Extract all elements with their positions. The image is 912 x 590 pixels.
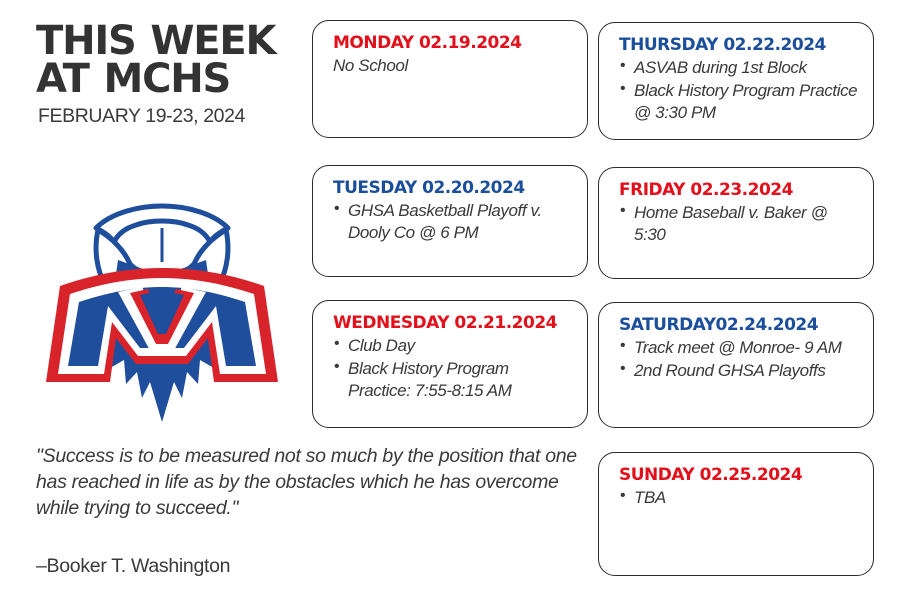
event-item: TBA xyxy=(619,487,859,509)
masthead: THIS WEEK AT MCHS FEBRUARY 19-23, 2024 xyxy=(36,22,298,128)
day-card-heading: SATURDAY02.24.2024 xyxy=(619,316,859,335)
event-list: TBA xyxy=(619,487,859,509)
quote-text: "Success is to be measured not so much b… xyxy=(36,444,584,522)
day-card-heading: TUESDAY 02.20.2024 xyxy=(333,179,573,198)
event-list: GHSA Basketball Playoff v. Dooly Co @ 6 … xyxy=(333,200,573,244)
day-card-heading: THURSDAY 02.22.2024 xyxy=(619,36,859,55)
day-card-tuesday: TUESDAY 02.20.2024GHSA Basketball Playof… xyxy=(312,165,588,277)
day-card-heading: FRIDAY 02.23.2024 xyxy=(619,181,859,200)
quote-block: "Success is to be measured not so much b… xyxy=(36,444,584,578)
event-item: GHSA Basketball Playoff v. Dooly Co @ 6 … xyxy=(333,200,573,244)
day-card-sunday: SUNDAY 02.25.2024TBA xyxy=(598,452,874,576)
day-card-friday: FRIDAY 02.23.2024Home Baseball v. Baker … xyxy=(598,167,874,279)
event-item: No School xyxy=(333,55,573,77)
date-range-subtitle: FEBRUARY 19-23, 2024 xyxy=(38,105,298,128)
day-card-thursday: THURSDAY 02.22.2024ASVAB during 1st Bloc… xyxy=(598,22,874,140)
day-card-heading: SUNDAY 02.25.2024 xyxy=(619,466,859,485)
page-title: THIS WEEK AT MCHS xyxy=(36,22,298,98)
event-list: Home Baseball v. Baker @ 5:30 xyxy=(619,202,859,246)
day-card-heading: MONDAY 02.19.2024 xyxy=(333,34,573,53)
event-list: No School xyxy=(333,55,573,77)
day-card-wednesday: WEDNESDAY 02.21.2024Club DayBlack Histor… xyxy=(312,300,588,428)
event-item: Black History Program Practice: 7:55-8:1… xyxy=(333,358,573,402)
day-card-heading: WEDNESDAY 02.21.2024 xyxy=(333,314,573,333)
event-item: 2nd Round GHSA Playoffs xyxy=(619,360,859,382)
event-item: Club Day xyxy=(333,335,573,357)
event-list: Track meet @ Monroe- 9 AM2nd Round GHSA … xyxy=(619,337,859,382)
event-item: Black History Program Practice @ 3:30 PM xyxy=(619,80,859,124)
day-card-monday: MONDAY 02.19.2024No School xyxy=(312,20,588,138)
event-item: Track meet @ Monroe- 9 AM xyxy=(619,337,859,359)
left-panel: THIS WEEK AT MCHS FEBRUARY 19-23, 2024 xyxy=(0,0,300,590)
quote-author: –Booker T. Washington xyxy=(36,555,584,578)
event-item: Home Baseball v. Baker @ 5:30 xyxy=(619,202,859,246)
event-item: ASVAB during 1st Block xyxy=(619,57,859,79)
event-list: ASVAB during 1st BlockBlack History Prog… xyxy=(619,57,859,123)
mchs-eagle-m-logo xyxy=(38,176,286,424)
event-list: Club DayBlack History Program Practice: … xyxy=(333,335,573,401)
day-card-saturday: SATURDAY02.24.2024Track meet @ Monroe- 9… xyxy=(598,302,874,428)
